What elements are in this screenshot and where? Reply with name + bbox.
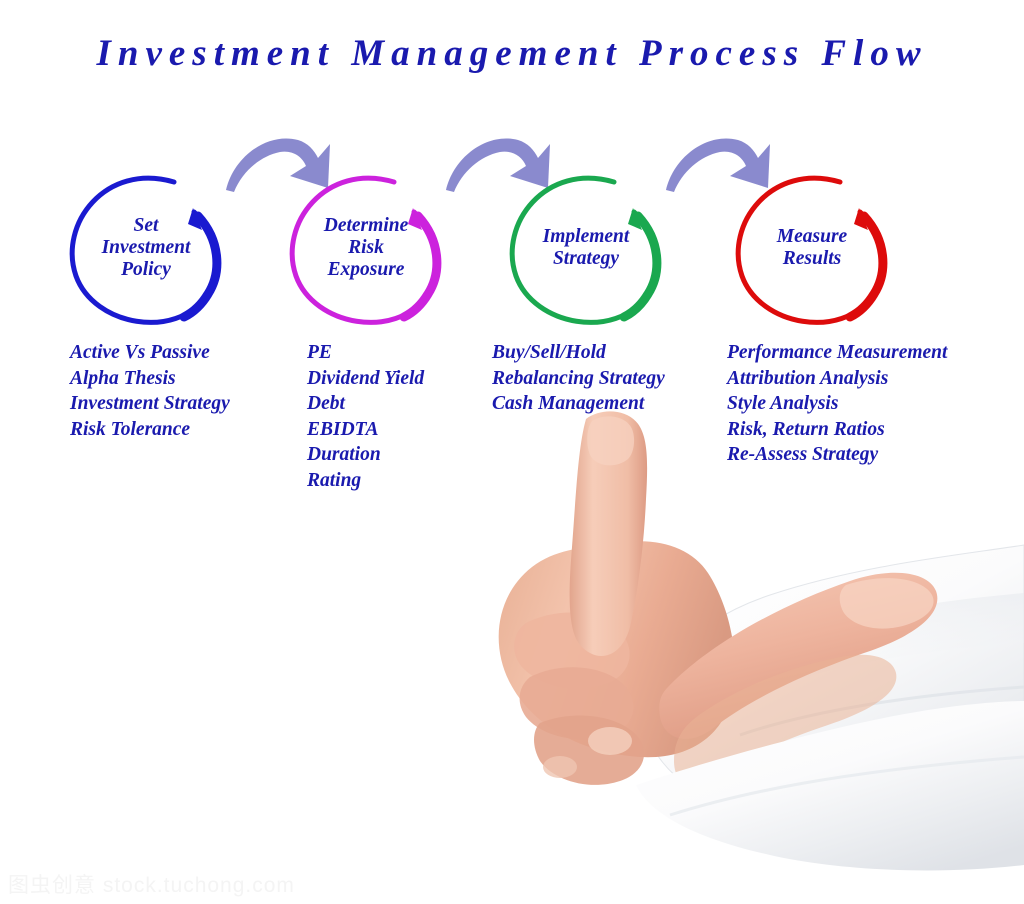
stage-items-determine-risk-exposure: PE Dividend Yield Debt EBIDTA Duration R… [307, 340, 424, 493]
list-item: Buy/Sell/Hold [492, 340, 665, 366]
stage-implement-strategy[interactable]: Implement Strategy [506, 168, 666, 328]
fingernail [543, 756, 577, 778]
circle-ring-icon [506, 168, 666, 328]
list-item: Risk, Return Ratios [727, 417, 947, 443]
list-item: Dividend Yield [307, 366, 424, 392]
list-item: Style Analysis [727, 391, 947, 417]
list-item: Active Vs Passive [70, 340, 230, 366]
list-item: Rebalancing Strategy [492, 366, 665, 392]
list-item: Re-Assess Strategy [727, 442, 947, 468]
list-item: Alpha Thesis [70, 366, 230, 392]
stage-items-implement-strategy: Buy/Sell/Hold Rebalancing Strategy Cash … [492, 340, 665, 417]
stage-set-investment-policy[interactable]: Set Investment Policy [66, 168, 226, 328]
stage-measure-results[interactable]: Measure Results [732, 168, 892, 328]
diagram-canvas: Investment Management Process Flow [0, 0, 1024, 904]
stage-items-measure-results: Performance Measurement Attribution Anal… [727, 340, 947, 468]
list-item: Cash Management [492, 391, 665, 417]
stage-items-set-investment-policy: Active Vs Passive Alpha Thesis Investmen… [70, 340, 230, 442]
stage-determine-risk-exposure[interactable]: Determine Risk Exposure [286, 168, 446, 328]
list-item: Risk Tolerance [70, 417, 230, 443]
circle-ring-icon [66, 168, 226, 328]
list-item: PE [307, 340, 424, 366]
list-item: Performance Measurement [727, 340, 947, 366]
list-item: EBIDTA [307, 417, 424, 443]
page-title: Investment Management Process Flow [0, 32, 1024, 75]
fingernail [588, 727, 632, 755]
list-item: Debt [307, 391, 424, 417]
fingertip-highlight [587, 416, 634, 465]
list-item: Rating [307, 468, 424, 494]
list-item: Attribution Analysis [727, 366, 947, 392]
hand-photo-svg [440, 395, 1024, 885]
stock-watermark: 图虫创意 stock.tuchong.com [8, 869, 295, 899]
hand-pointing-photo [440, 395, 1024, 885]
circle-ring-icon [286, 168, 446, 328]
circle-ring-icon [732, 168, 892, 328]
list-item: Duration [307, 442, 424, 468]
list-item: Investment Strategy [70, 391, 230, 417]
